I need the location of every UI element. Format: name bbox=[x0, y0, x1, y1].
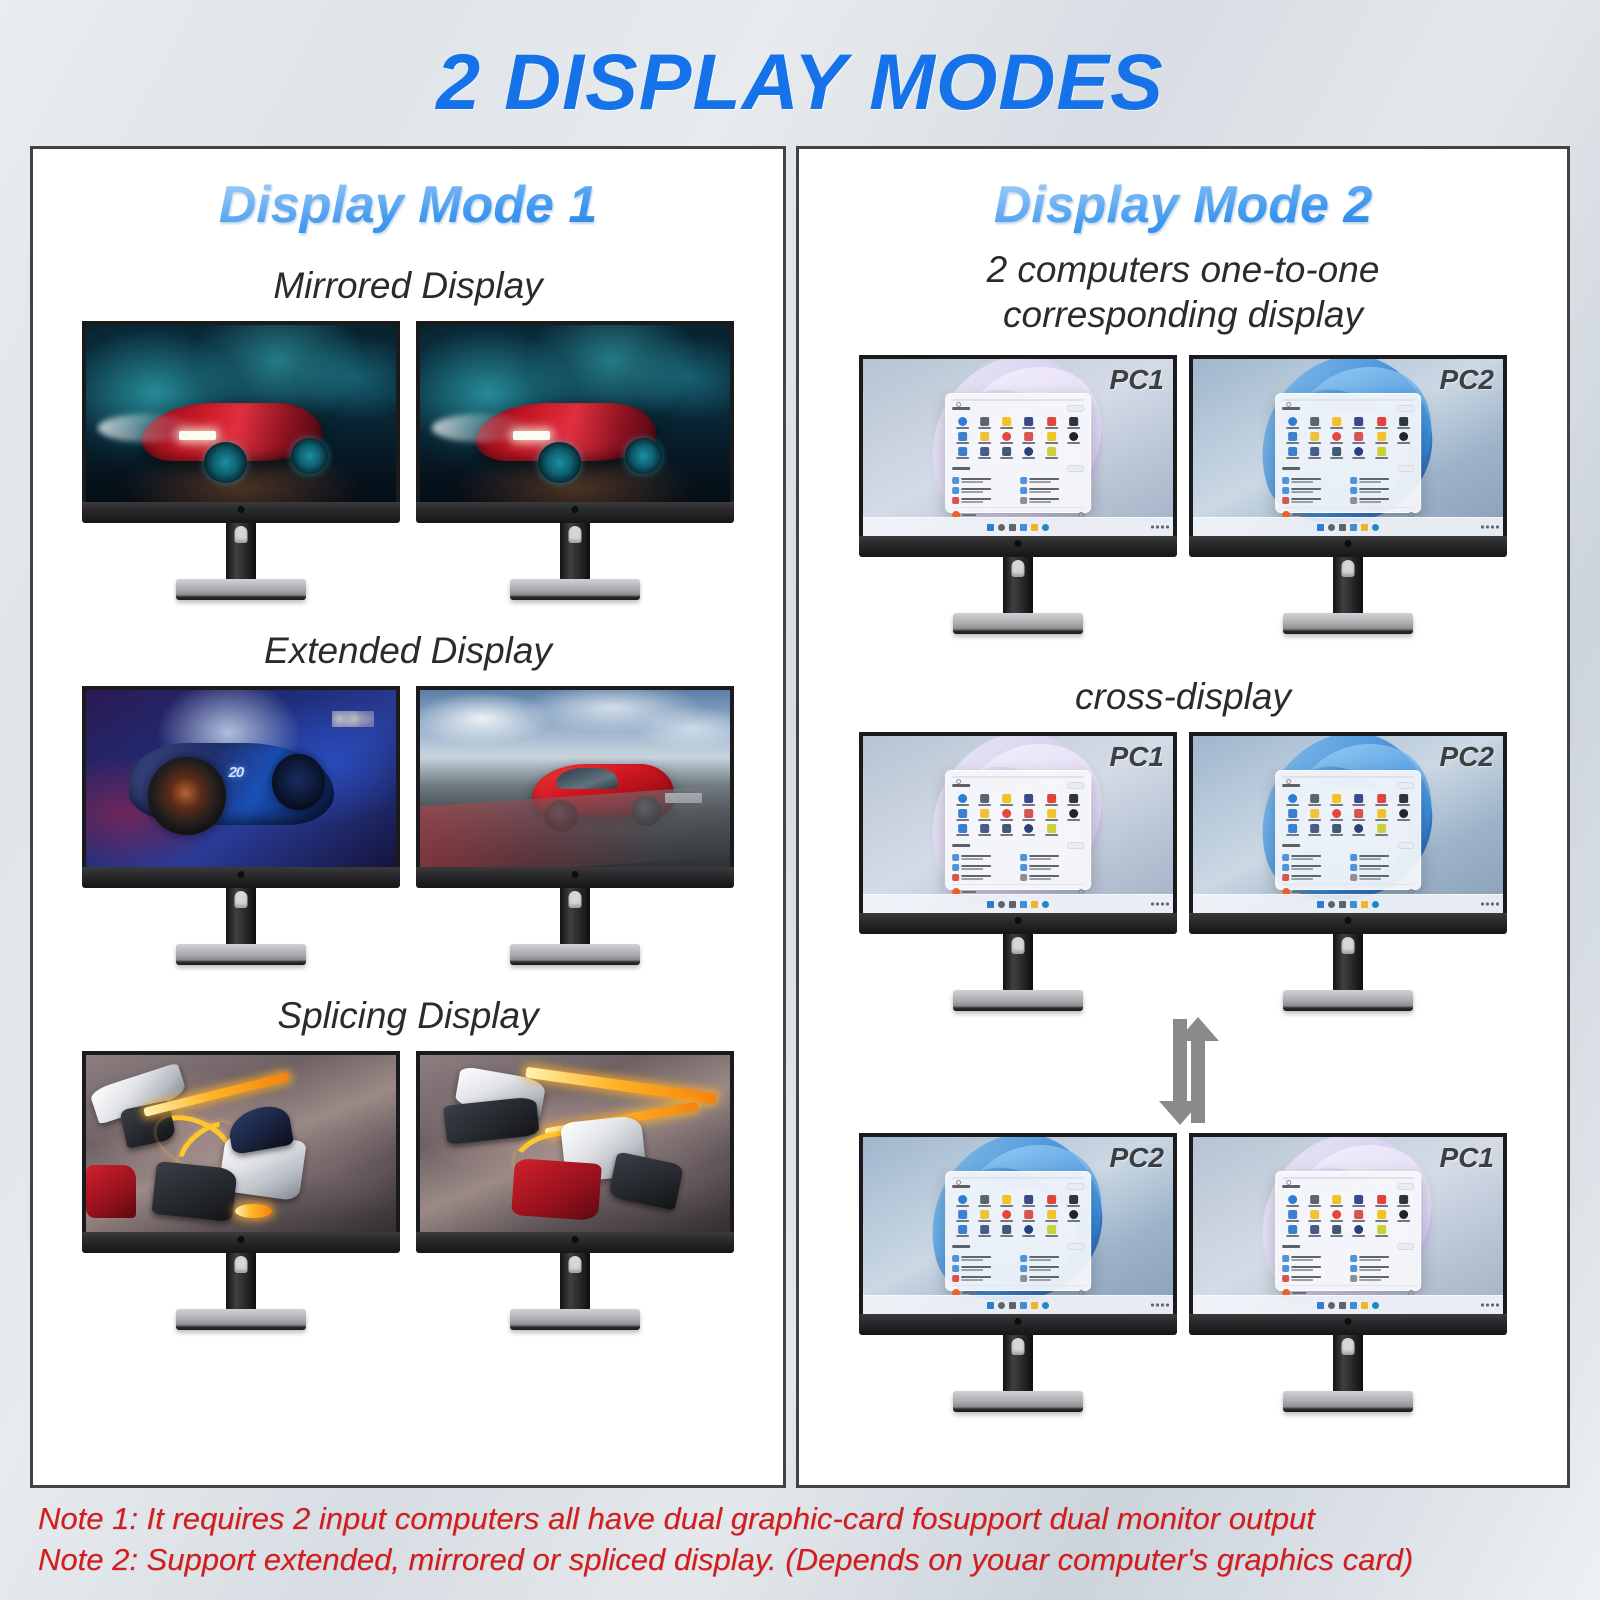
edge-icon[interactable] bbox=[1042, 901, 1049, 908]
all-apps-button[interactable] bbox=[1067, 1183, 1084, 1190]
pinned-app[interactable] bbox=[1064, 1195, 1084, 1207]
monitor-mirrored-left[interactable] bbox=[82, 321, 400, 600]
pinned-app[interactable] bbox=[1282, 1225, 1302, 1237]
all-apps-button[interactable] bbox=[1397, 782, 1414, 789]
volume-icon bbox=[1486, 526, 1489, 529]
recommended-item[interactable] bbox=[1282, 874, 1346, 881]
photos-icon bbox=[1377, 417, 1386, 426]
pinned-app[interactable] bbox=[1304, 1195, 1324, 1207]
pinned-app[interactable] bbox=[1371, 1225, 1391, 1237]
pinned-app[interactable] bbox=[1064, 432, 1084, 444]
recommended-item[interactable] bbox=[1282, 477, 1346, 484]
pc-label: PC2 bbox=[1110, 1142, 1164, 1174]
recommended-item[interactable] bbox=[1282, 1265, 1346, 1272]
taskbar[interactable] bbox=[1193, 894, 1503, 913]
pinned-app[interactable] bbox=[997, 1195, 1017, 1207]
files-icon bbox=[1047, 809, 1056, 818]
pinned-app[interactable] bbox=[1349, 809, 1369, 821]
pinned-app[interactable] bbox=[974, 432, 994, 444]
start-icon[interactable] bbox=[987, 901, 994, 908]
screen-row2-right: PC2 bbox=[1189, 732, 1507, 913]
pinned-app[interactable] bbox=[1394, 432, 1414, 444]
pinned-app[interactable] bbox=[1282, 809, 1302, 821]
recommended-item[interactable] bbox=[952, 864, 1016, 871]
widgets-icon[interactable] bbox=[1020, 1302, 1027, 1309]
recommended-item[interactable] bbox=[1020, 497, 1084, 504]
taskbar[interactable] bbox=[1193, 517, 1503, 536]
pinned-app[interactable] bbox=[1041, 1225, 1061, 1237]
pinned-app[interactable] bbox=[1041, 1210, 1061, 1222]
recommended-item[interactable] bbox=[1350, 497, 1414, 504]
screen-extended-right bbox=[416, 686, 734, 867]
recommended-item[interactable] bbox=[952, 497, 1016, 504]
calc-icon bbox=[1002, 447, 1011, 456]
recommended-item[interactable] bbox=[952, 874, 1016, 881]
pinned-app[interactable] bbox=[952, 824, 972, 836]
recommended-item[interactable] bbox=[1282, 1275, 1346, 1282]
pinned-app[interactable] bbox=[952, 1225, 972, 1237]
pinned-app[interactable] bbox=[1064, 794, 1084, 806]
pinned-app[interactable] bbox=[1019, 417, 1039, 429]
pinned-app[interactable] bbox=[1064, 417, 1084, 429]
red-porsche-track-artwork bbox=[420, 690, 730, 867]
recommended-item[interactable] bbox=[1350, 854, 1414, 861]
pinned-app[interactable] bbox=[1327, 794, 1347, 806]
more-button[interactable] bbox=[1067, 842, 1084, 849]
recommended-list bbox=[952, 1255, 1084, 1282]
recommended-item[interactable] bbox=[1020, 1275, 1084, 1282]
pinned-app[interactable] bbox=[1304, 824, 1324, 836]
task-view-icon[interactable] bbox=[1339, 901, 1346, 908]
store-icon bbox=[1025, 794, 1034, 803]
recommended-item[interactable] bbox=[952, 1275, 1016, 1282]
pinned-app[interactable] bbox=[1371, 794, 1391, 806]
pinned-app[interactable] bbox=[1282, 417, 1302, 429]
doc-icon bbox=[1020, 854, 1027, 861]
pinned-app[interactable] bbox=[1371, 417, 1391, 429]
pinned-app[interactable] bbox=[1282, 1195, 1302, 1207]
edge-icon[interactable] bbox=[1372, 901, 1379, 908]
pinned-app[interactable] bbox=[997, 432, 1017, 444]
pinned-app[interactable] bbox=[997, 1225, 1017, 1237]
monitor-row2-left[interactable]: PC1 bbox=[859, 732, 1177, 1011]
pinned-app[interactable] bbox=[1371, 432, 1391, 444]
pinned-app[interactable] bbox=[1282, 794, 1302, 806]
pinned-app[interactable] bbox=[997, 417, 1017, 429]
doc-icon bbox=[952, 1255, 959, 1262]
notes-icon bbox=[1310, 809, 1319, 818]
pc-label: PC1 bbox=[1110, 364, 1164, 396]
search-icon[interactable] bbox=[1328, 1302, 1335, 1309]
pinned-app[interactable] bbox=[1371, 447, 1391, 459]
pinned-app[interactable] bbox=[1394, 1195, 1414, 1207]
pinned-app[interactable] bbox=[1019, 794, 1039, 806]
pinned-app[interactable] bbox=[974, 824, 994, 836]
files-icon bbox=[1377, 809, 1386, 818]
start-icon[interactable] bbox=[987, 1302, 994, 1309]
pinned-app[interactable] bbox=[1064, 809, 1084, 821]
pinned-app[interactable] bbox=[1304, 447, 1324, 459]
recommended-list bbox=[952, 477, 1084, 504]
doc-icon bbox=[1020, 497, 1027, 504]
pinned-app[interactable] bbox=[1041, 794, 1061, 806]
pinned-app[interactable] bbox=[997, 809, 1017, 821]
start-icon[interactable] bbox=[1317, 1302, 1324, 1309]
recommended-label bbox=[1282, 844, 1300, 847]
calc-icon bbox=[1002, 1225, 1011, 1234]
pinned-app[interactable] bbox=[1282, 447, 1302, 459]
monitor-chin bbox=[416, 502, 734, 523]
windows11-blue-desktop: PC2 bbox=[863, 1137, 1173, 1314]
pinned-app[interactable] bbox=[1394, 809, 1414, 821]
pinned-app[interactable] bbox=[1041, 417, 1061, 429]
pinned-app[interactable] bbox=[1041, 447, 1061, 459]
pinned-app[interactable] bbox=[1041, 1195, 1061, 1207]
pinned-app[interactable] bbox=[1371, 809, 1391, 821]
monitor-row3-right[interactable]: PC1 bbox=[1189, 1133, 1507, 1412]
screen-row1-left: PC1 bbox=[859, 355, 1177, 536]
explorer-icon bbox=[1332, 1195, 1341, 1204]
office-icon bbox=[1399, 417, 1408, 426]
note-line-2: Note 2: Support extended, mirrored or sp… bbox=[38, 1539, 1578, 1580]
all-apps-button[interactable] bbox=[1397, 1183, 1414, 1190]
edge-icon[interactable] bbox=[1372, 524, 1379, 531]
pinned-apps-grid bbox=[952, 794, 1084, 836]
pinned-app[interactable] bbox=[1371, 1195, 1391, 1207]
edge-icon[interactable] bbox=[1372, 1302, 1379, 1309]
recommended-item[interactable] bbox=[1282, 854, 1346, 861]
edge-icon[interactable] bbox=[1042, 1302, 1049, 1309]
pinned-app[interactable] bbox=[1327, 447, 1347, 459]
settings-icon bbox=[1310, 417, 1319, 426]
doc-icon bbox=[1282, 497, 1289, 504]
recommended-item[interactable] bbox=[952, 477, 1016, 484]
pinned-app[interactable] bbox=[974, 417, 994, 429]
recommended-item[interactable] bbox=[1020, 487, 1084, 494]
widgets-icon[interactable] bbox=[1350, 1302, 1357, 1309]
pinned-app[interactable] bbox=[1327, 824, 1347, 836]
screen-row2-left: PC1 bbox=[859, 732, 1177, 913]
pinned-app[interactable] bbox=[974, 1210, 994, 1222]
recommended-item[interactable] bbox=[1282, 487, 1346, 494]
pinned-app[interactable] bbox=[1327, 1195, 1347, 1207]
doc-icon bbox=[1350, 864, 1357, 871]
mecha-red-panel bbox=[86, 1165, 136, 1218]
monitor-splicing-left[interactable] bbox=[82, 1051, 400, 1330]
monitor-row1-right[interactable]: PC2 bbox=[1189, 355, 1507, 634]
all-apps-button[interactable] bbox=[1067, 405, 1084, 412]
start-search-input[interactable] bbox=[952, 776, 1084, 778]
file-explorer-icon[interactable] bbox=[1361, 901, 1368, 908]
more-button[interactable] bbox=[1067, 465, 1084, 472]
pinned-app[interactable] bbox=[1371, 824, 1391, 836]
system-tray[interactable] bbox=[1481, 1304, 1499, 1307]
pinned-app[interactable] bbox=[997, 447, 1017, 459]
outlook-icon bbox=[1288, 809, 1297, 818]
pinned-app[interactable] bbox=[974, 447, 994, 459]
pinned-app[interactable] bbox=[1019, 432, 1039, 444]
blue-concept-racer-artwork: 20 bbox=[86, 690, 396, 867]
more-button[interactable] bbox=[1397, 465, 1414, 472]
recommended-item[interactable] bbox=[1282, 497, 1346, 504]
pinned-app[interactable] bbox=[1304, 1210, 1324, 1222]
store-icon bbox=[1025, 1195, 1034, 1204]
windows11-light-desktop: PC1 bbox=[863, 736, 1173, 913]
pinned-app[interactable] bbox=[974, 1195, 994, 1207]
recommended-item[interactable] bbox=[1020, 1255, 1084, 1262]
more-button[interactable] bbox=[1397, 1243, 1414, 1250]
pinned-app[interactable] bbox=[997, 1210, 1017, 1222]
task-view-icon[interactable] bbox=[1009, 1302, 1016, 1309]
pinned-app[interactable] bbox=[1282, 1210, 1302, 1222]
pinned-app[interactable] bbox=[1304, 809, 1324, 821]
xbox-icon bbox=[1047, 1225, 1056, 1234]
pinned-app[interactable] bbox=[1349, 794, 1369, 806]
file-explorer-icon[interactable] bbox=[1031, 1302, 1038, 1309]
mode2-subtitle-line2: corresponding display bbox=[799, 292, 1567, 337]
start-icon[interactable] bbox=[1317, 901, 1324, 908]
more-button[interactable] bbox=[1397, 842, 1414, 849]
pinned-app[interactable] bbox=[974, 809, 994, 821]
system-tray[interactable] bbox=[1481, 903, 1499, 906]
recommended-item[interactable] bbox=[1350, 487, 1414, 494]
pinned-app[interactable] bbox=[1019, 1210, 1039, 1222]
pinned-app[interactable] bbox=[1041, 824, 1061, 836]
pinned-app[interactable] bbox=[1371, 1210, 1391, 1222]
pinned-app[interactable] bbox=[952, 794, 972, 806]
playstore-icon bbox=[1310, 447, 1319, 456]
word-icon bbox=[958, 824, 967, 833]
pinned-app[interactable] bbox=[952, 447, 972, 459]
pinned-app[interactable] bbox=[1019, 447, 1039, 459]
pinned-app[interactable] bbox=[952, 417, 972, 429]
pinned-app bbox=[1064, 1225, 1084, 1237]
pinned-app[interactable] bbox=[1304, 432, 1324, 444]
pinned-app[interactable] bbox=[997, 794, 1017, 806]
recommended-item[interactable] bbox=[1020, 477, 1084, 484]
pinned-app[interactable] bbox=[1304, 1225, 1324, 1237]
monitor-extended-right[interactable] bbox=[416, 686, 734, 965]
all-apps-button[interactable] bbox=[1067, 782, 1084, 789]
recommended-item[interactable] bbox=[1020, 864, 1084, 871]
file-explorer-icon[interactable] bbox=[1031, 524, 1038, 531]
monitor-chin bbox=[82, 1232, 400, 1253]
pinned-app[interactable] bbox=[974, 1225, 994, 1237]
search-icon[interactable] bbox=[1328, 901, 1335, 908]
mode2-subtitle-line1: 2 computers one-to-one bbox=[799, 247, 1567, 292]
pinned-app[interactable] bbox=[1327, 809, 1347, 821]
pinned-app[interactable] bbox=[1394, 417, 1414, 429]
edge-icon bbox=[958, 417, 967, 426]
pinned-app[interactable] bbox=[1327, 417, 1347, 429]
monitor-chin bbox=[859, 1314, 1177, 1335]
pinned-app[interactable] bbox=[1019, 824, 1039, 836]
edge-icon[interactable] bbox=[1042, 524, 1049, 531]
start-menu[interactable] bbox=[945, 393, 1091, 513]
photos-icon bbox=[1377, 1195, 1386, 1204]
recommended-item[interactable] bbox=[1020, 1265, 1084, 1272]
start-menu[interactable] bbox=[945, 1171, 1091, 1291]
monitor-extended-left[interactable]: 20 bbox=[82, 686, 400, 965]
task-view-icon[interactable] bbox=[1339, 524, 1346, 531]
recommended-item[interactable] bbox=[1020, 854, 1084, 861]
settings-icon bbox=[1310, 794, 1319, 803]
pinned-app[interactable] bbox=[1304, 417, 1324, 429]
monitor-splicing-right[interactable] bbox=[416, 1051, 734, 1330]
start-search-input[interactable] bbox=[1282, 399, 1414, 401]
recommended-item[interactable] bbox=[952, 1255, 1016, 1262]
pinned-app[interactable] bbox=[1041, 432, 1061, 444]
recommended-item[interactable] bbox=[952, 854, 1016, 861]
start-icon[interactable] bbox=[1317, 524, 1324, 531]
recommended-item[interactable] bbox=[1350, 1275, 1414, 1282]
front-tire bbox=[148, 757, 226, 835]
system-tray[interactable] bbox=[1481, 526, 1499, 529]
recommended-item[interactable] bbox=[1350, 477, 1414, 484]
taskbar[interactable] bbox=[863, 1295, 1173, 1314]
file-explorer-icon[interactable] bbox=[1031, 901, 1038, 908]
pinned-app[interactable] bbox=[1019, 1195, 1039, 1207]
recommended-header bbox=[952, 842, 1084, 849]
task-view-icon[interactable] bbox=[1009, 524, 1016, 531]
edge-icon bbox=[958, 794, 967, 803]
pinned-header bbox=[1282, 782, 1414, 789]
pinned-app[interactable] bbox=[1304, 794, 1324, 806]
pinned-app bbox=[1394, 447, 1414, 459]
pinned-app[interactable] bbox=[1327, 1225, 1347, 1237]
doc-icon bbox=[952, 1275, 959, 1282]
darkapp-icon bbox=[1069, 1210, 1078, 1219]
monitor-row3-left[interactable]: PC2 bbox=[859, 1133, 1177, 1412]
start-icon[interactable] bbox=[987, 524, 994, 531]
start-search-input[interactable] bbox=[1282, 776, 1414, 778]
pinned-app[interactable] bbox=[1349, 1225, 1369, 1237]
pinned-app[interactable] bbox=[1349, 447, 1369, 459]
doc-icon bbox=[1350, 854, 1357, 861]
pinned-app[interactable] bbox=[1394, 794, 1414, 806]
wheel-rear bbox=[625, 438, 662, 473]
pinned-app[interactable] bbox=[1327, 1210, 1347, 1222]
widgets-icon[interactable] bbox=[1350, 524, 1357, 531]
pinned-app[interactable] bbox=[1349, 824, 1369, 836]
recommended-item[interactable] bbox=[1350, 1265, 1414, 1272]
pinned-app[interactable] bbox=[1019, 1225, 1039, 1237]
system-tray[interactable] bbox=[1151, 526, 1169, 529]
pinned-app[interactable] bbox=[1019, 809, 1039, 821]
recommended-item[interactable] bbox=[952, 487, 1016, 494]
monitor-row1-left[interactable]: PC1 bbox=[859, 355, 1177, 634]
taskbar[interactable] bbox=[863, 517, 1173, 536]
pinned-app[interactable] bbox=[952, 1195, 972, 1207]
clock-icon bbox=[1166, 903, 1169, 906]
pinned-label bbox=[1282, 784, 1300, 787]
pinned-app[interactable] bbox=[1349, 432, 1369, 444]
taskbar[interactable] bbox=[863, 894, 1173, 913]
pinned-app[interactable] bbox=[1282, 432, 1302, 444]
splicing-display-monitors bbox=[33, 1051, 783, 1330]
search-icon[interactable] bbox=[1328, 524, 1335, 531]
recommended-item[interactable] bbox=[1282, 1255, 1346, 1262]
start-menu[interactable] bbox=[945, 770, 1091, 890]
wheel-front bbox=[544, 800, 578, 832]
widgets-icon[interactable] bbox=[1020, 524, 1027, 531]
search-icon[interactable] bbox=[998, 524, 1005, 531]
pinned-app[interactable] bbox=[974, 794, 994, 806]
office-icon bbox=[1069, 1195, 1078, 1204]
pinned-app[interactable] bbox=[1394, 1210, 1414, 1222]
pinned-app[interactable] bbox=[997, 824, 1017, 836]
doc-icon bbox=[1020, 487, 1027, 494]
start-search-input[interactable] bbox=[952, 399, 1084, 401]
pinned-app[interactable] bbox=[1327, 432, 1347, 444]
system-tray[interactable] bbox=[1151, 903, 1169, 906]
files-icon bbox=[1377, 1210, 1386, 1219]
pinned-app[interactable] bbox=[1282, 824, 1302, 836]
doc-icon bbox=[1350, 874, 1357, 881]
pinned-app[interactable] bbox=[952, 809, 972, 821]
task-view-icon[interactable] bbox=[1339, 1302, 1346, 1309]
more-button[interactable] bbox=[1067, 1243, 1084, 1250]
task-view-icon[interactable] bbox=[1009, 901, 1016, 908]
store-icon bbox=[1025, 417, 1034, 426]
start-menu[interactable] bbox=[1275, 393, 1421, 513]
taskbar[interactable] bbox=[1193, 1295, 1503, 1314]
recommended-item[interactable] bbox=[1350, 864, 1414, 871]
start-menu[interactable] bbox=[1275, 1171, 1421, 1291]
all-apps-button[interactable] bbox=[1397, 405, 1414, 412]
volume-icon bbox=[1156, 1304, 1159, 1307]
pinned-app[interactable] bbox=[1041, 809, 1061, 821]
mecha-leg bbox=[152, 1161, 238, 1222]
pinned-app[interactable] bbox=[952, 432, 972, 444]
start-search-input[interactable] bbox=[952, 1177, 1084, 1179]
pc-row-1: PC1 bbox=[799, 355, 1567, 634]
monitor-neck bbox=[226, 523, 256, 579]
monitor-mirrored-right[interactable] bbox=[416, 321, 734, 600]
pinned-app[interactable] bbox=[1349, 417, 1369, 429]
monitor-neck bbox=[1003, 934, 1033, 990]
system-tray[interactable] bbox=[1151, 1304, 1169, 1307]
recommended-item[interactable] bbox=[1350, 1255, 1414, 1262]
file-explorer-icon[interactable] bbox=[1361, 524, 1368, 531]
monitor-row2-right[interactable]: PC2 bbox=[1189, 732, 1507, 1011]
doc-icon bbox=[1350, 497, 1357, 504]
doc-icon bbox=[1020, 874, 1027, 881]
recommended-item[interactable] bbox=[1350, 874, 1414, 881]
display-mode-1-heading: Display Mode 1 bbox=[33, 175, 783, 235]
recommended-item[interactable] bbox=[1020, 874, 1084, 881]
search-icon[interactable] bbox=[998, 901, 1005, 908]
widgets-icon[interactable] bbox=[1020, 901, 1027, 908]
start-search-input[interactable] bbox=[1282, 1177, 1414, 1179]
notes-block: Note 1: It requires 2 input computers al… bbox=[38, 1498, 1578, 1580]
phonelink-icon bbox=[1355, 824, 1364, 833]
pinned-header bbox=[1282, 1183, 1414, 1190]
recommended-item[interactable] bbox=[952, 1265, 1016, 1272]
media-icon bbox=[1002, 1210, 1011, 1219]
recommended-item[interactable] bbox=[1282, 864, 1346, 871]
pinned-app[interactable] bbox=[1349, 1210, 1369, 1222]
search-icon[interactable] bbox=[998, 1302, 1005, 1309]
widgets-icon[interactable] bbox=[1350, 901, 1357, 908]
file-explorer-icon[interactable] bbox=[1361, 1302, 1368, 1309]
pinned-app[interactable] bbox=[1349, 1195, 1369, 1207]
pinned-app[interactable] bbox=[1064, 1210, 1084, 1222]
start-menu[interactable] bbox=[1275, 770, 1421, 890]
pinned-app[interactable] bbox=[952, 1210, 972, 1222]
photos-icon bbox=[1047, 1195, 1056, 1204]
doc-icon bbox=[1282, 1265, 1289, 1272]
